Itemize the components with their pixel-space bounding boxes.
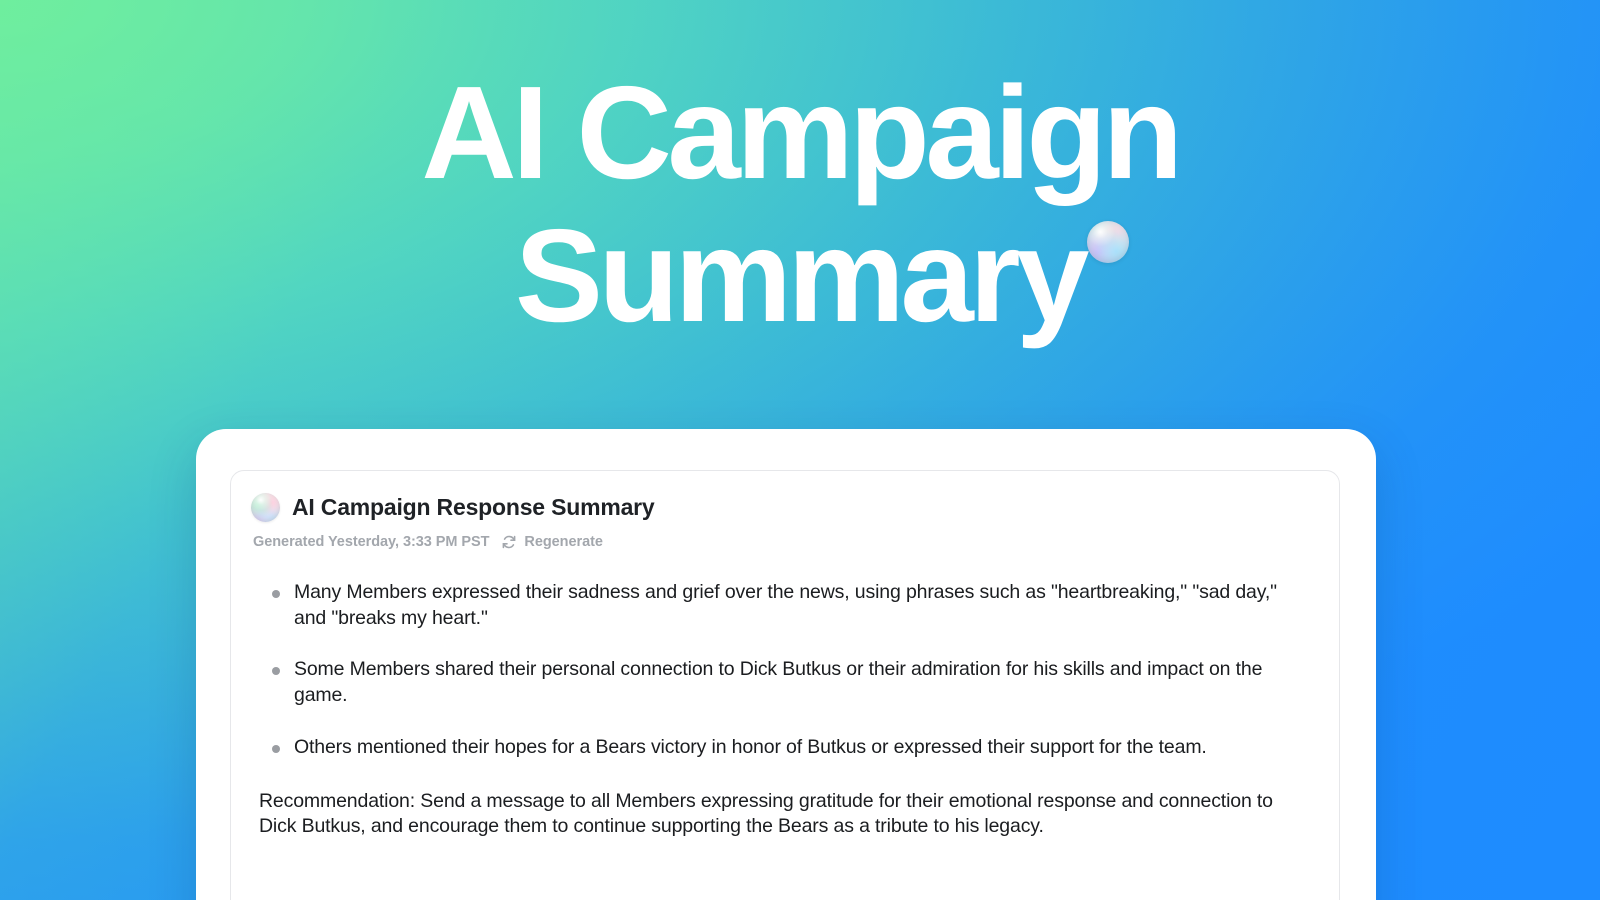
card-meta-row: Generated Yesterday, 3:33 PM PST Regener… [253, 534, 1313, 550]
summary-panel: AI Campaign Response Summary Generated Y… [196, 429, 1376, 900]
list-item: Many Members expressed their sadness and… [269, 580, 1283, 631]
iridescent-orb-icon [1087, 221, 1129, 263]
hero-heading: AI Campaign Summary [0, 62, 1600, 347]
card-header: AI Campaign Response Summary [251, 493, 1313, 522]
generated-timestamp: Generated Yesterday, 3:33 PM PST [253, 534, 489, 550]
list-item: Some Members shared their personal conne… [269, 657, 1283, 708]
regenerate-button[interactable]: Regenerate [501, 534, 602, 550]
recommendation-text: Recommendation: Send a message to all Me… [259, 789, 1283, 840]
summary-bullet-list: Many Members expressed their sadness and… [251, 580, 1313, 761]
hero-title-line-2: Summary [515, 202, 1085, 349]
regenerate-label: Regenerate [524, 534, 602, 550]
card-title: AI Campaign Response Summary [292, 494, 655, 521]
list-item: Others mentioned their hopes for a Bears… [269, 735, 1283, 761]
hero-title-line-1: AI Campaign [0, 62, 1600, 205]
ai-summary-card: AI Campaign Response Summary Generated Y… [230, 470, 1340, 900]
iridescent-orb-icon [251, 493, 280, 522]
hero-title-line-2-wrap: Summary [515, 205, 1085, 348]
refresh-icon [501, 534, 517, 550]
page-background: AI Campaign Summary AI Campaign Response… [0, 0, 1600, 900]
